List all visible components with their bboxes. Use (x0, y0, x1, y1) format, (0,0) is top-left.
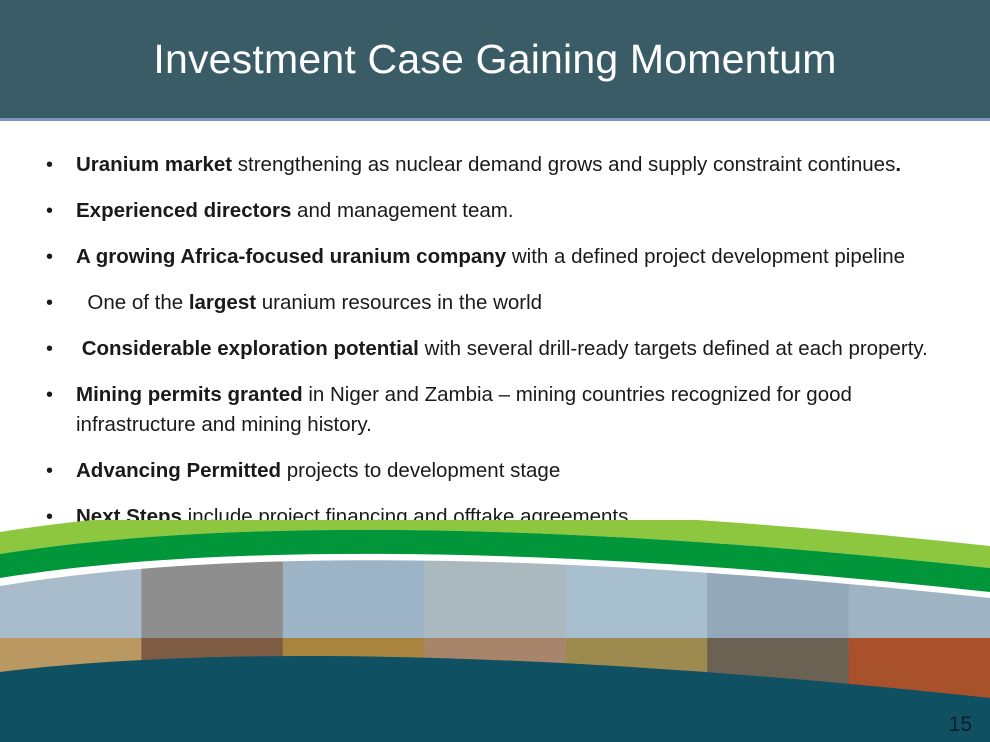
bullet-bold-tail: . (895, 153, 901, 176)
bullet-marker-icon: • (44, 456, 76, 486)
bullet-item: •Experienced directors and management te… (0, 196, 990, 226)
bullet-item: •Uranium market strengthening as nuclear… (0, 150, 990, 180)
header-divider-rule (0, 118, 990, 121)
bullet-rest-text: uranium resources in the world (256, 291, 542, 314)
bullet-bold-mid: largest (189, 291, 256, 314)
bullet-text: One of the largest uranium resources in … (76, 288, 970, 318)
bullet-marker-icon: • (44, 196, 76, 226)
bullet-item: • One of the largest uranium resources i… (0, 288, 990, 318)
slide-root: Investment Case Gaining Momentum •Uraniu… (0, 0, 990, 742)
page-title: Investment Case Gaining Momentum (0, 33, 990, 85)
bullet-rest-text: and management team. (291, 199, 513, 222)
bullet-bold-lead: Uranium market (76, 153, 232, 176)
bottom-decoration-zone: 15 (0, 520, 990, 742)
bullet-rest-text: strengthening as nuclear demand grows an… (232, 153, 895, 176)
bullet-bold-lead: Considerable exploration potential (82, 337, 419, 360)
bullet-text: Experienced directors and management tea… (76, 196, 970, 226)
bullet-text: Considerable exploration potential with … (76, 334, 970, 364)
bullet-text: Advancing Permitted projects to developm… (76, 456, 970, 486)
bullet-item: •Mining permits granted in Niger and Zam… (0, 380, 990, 440)
bullet-text: Uranium market strengthening as nuclear … (76, 150, 970, 180)
bullet-item: •Advancing Permitted projects to develop… (0, 456, 990, 486)
bullet-bold-lead: Advancing Permitted (76, 459, 281, 482)
bullet-list: •Uranium market strengthening as nuclear… (0, 150, 990, 548)
wave-graphic (0, 520, 990, 742)
bullet-marker-icon: • (44, 150, 76, 180)
bullet-text: A growing Africa-focused uranium company… (76, 242, 970, 272)
bullet-rest-text: with a defined project development pipel… (506, 245, 905, 268)
bullet-marker-icon: • (44, 288, 76, 318)
bullet-item: • Considerable exploration potential wit… (0, 334, 990, 364)
bullet-pre-text: One of the (82, 291, 189, 314)
bullet-marker-icon: • (44, 242, 76, 272)
bullet-bold-lead: Experienced directors (76, 199, 291, 222)
bullet-rest-text: with several drill-ready targets defined… (419, 337, 928, 360)
bullet-bold-lead: A growing Africa-focused uranium company (76, 245, 506, 268)
bullet-rest-text: projects to development stage (281, 459, 560, 482)
bullet-item: •A growing Africa-focused uranium compan… (0, 242, 990, 272)
bullet-marker-icon: • (44, 334, 76, 364)
bullet-bold-lead: Mining permits granted (76, 383, 303, 406)
page-number: 15 (949, 712, 972, 738)
bullet-marker-icon: • (44, 380, 76, 410)
bullet-text: Mining permits granted in Niger and Zamb… (76, 380, 970, 440)
